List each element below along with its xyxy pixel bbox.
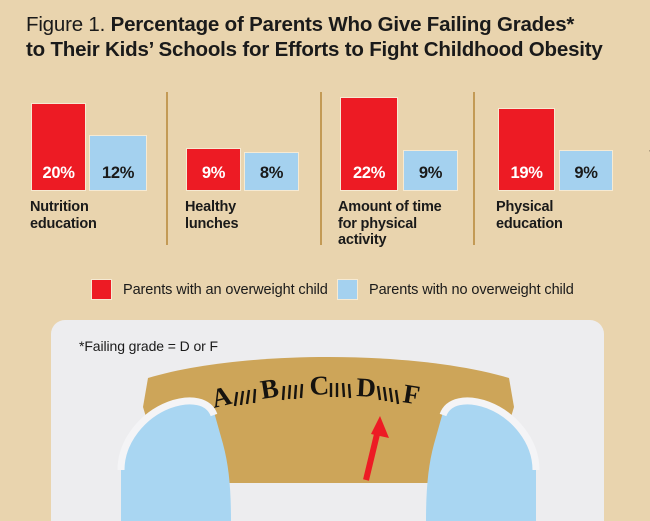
group-label-line: activity <box>338 232 478 249</box>
legend-item-overweight-child[interactable]: Parents with an overweight child <box>91 279 328 300</box>
bar-overweight-nutrition-education[interactable]: 20% <box>31 103 86 191</box>
group-divider-1 <box>166 92 168 245</box>
group-label-line: education <box>30 216 160 233</box>
scale-illustration: A B C D F <box>51 320 604 521</box>
group-label-physical-education: Physical education <box>496 199 626 232</box>
right-foot-shape <box>426 398 536 521</box>
bar-value-label: 9% <box>574 165 597 191</box>
bar-not-overweight-healthy-lunches[interactable]: 8% <box>244 152 299 191</box>
illustration-panel: *Failing grade = D or F A B C D F <box>51 320 604 521</box>
left-foot-shape <box>121 398 231 521</box>
figure-container: Figure 1. Percentage of Parents Who Give… <box>0 0 650 521</box>
group-label-line: Nutrition <box>30 199 160 216</box>
legend-swatch-blue-icon <box>337 279 358 300</box>
group-label-line: for physical <box>338 216 478 233</box>
bar-overweight-physical-education[interactable]: 19% <box>498 108 555 191</box>
group-label-line: Physical <box>496 199 626 216</box>
bar-overweight-physical-activity-time[interactable]: 22% <box>340 97 398 191</box>
bar-overweight-healthy-lunches[interactable]: 9% <box>186 148 241 191</box>
bar-not-overweight-nutrition-education[interactable]: 12% <box>89 135 147 191</box>
group-divider-2 <box>320 92 322 245</box>
bar-value-label: 22% <box>353 165 385 191</box>
legend-item-no-overweight-child[interactable]: Parents with no overweight child <box>337 279 574 300</box>
group-label-line: education <box>496 216 626 233</box>
legend-label: Parents with an overweight child <box>123 282 328 298</box>
bar-chart: 20% 12% Nutrition education 9% 8% Health… <box>0 0 650 260</box>
legend-label: Parents with no overweight child <box>369 282 574 298</box>
group-label-line: lunches <box>185 216 315 233</box>
group-label-line: Healthy <box>185 199 315 216</box>
bar-value-label: 9% <box>419 165 442 191</box>
bar-value-label: 20% <box>42 165 74 191</box>
group-label-line: Amount of time <box>338 199 478 216</box>
bar-not-overweight-physical-education[interactable]: 9% <box>559 150 613 191</box>
bar-value-label: 12% <box>102 165 134 191</box>
legend-swatch-red-icon <box>91 279 112 300</box>
bar-value-label: 8% <box>260 165 283 191</box>
group-label-nutrition-education: Nutrition education <box>30 199 160 232</box>
group-label-healthy-lunches: Healthy lunches <box>185 199 315 232</box>
group-label-physical-activity-time: Amount of time for physical activity <box>338 199 478 249</box>
bar-not-overweight-physical-activity-time[interactable]: 9% <box>403 150 458 191</box>
bar-value-label: 19% <box>510 165 542 191</box>
chart-legend: Parents with an overweight child Parents… <box>0 279 650 303</box>
bar-value-label: 9% <box>202 165 225 191</box>
grade-letter-c: C <box>309 370 330 401</box>
grade-letter-d: D <box>356 372 377 403</box>
